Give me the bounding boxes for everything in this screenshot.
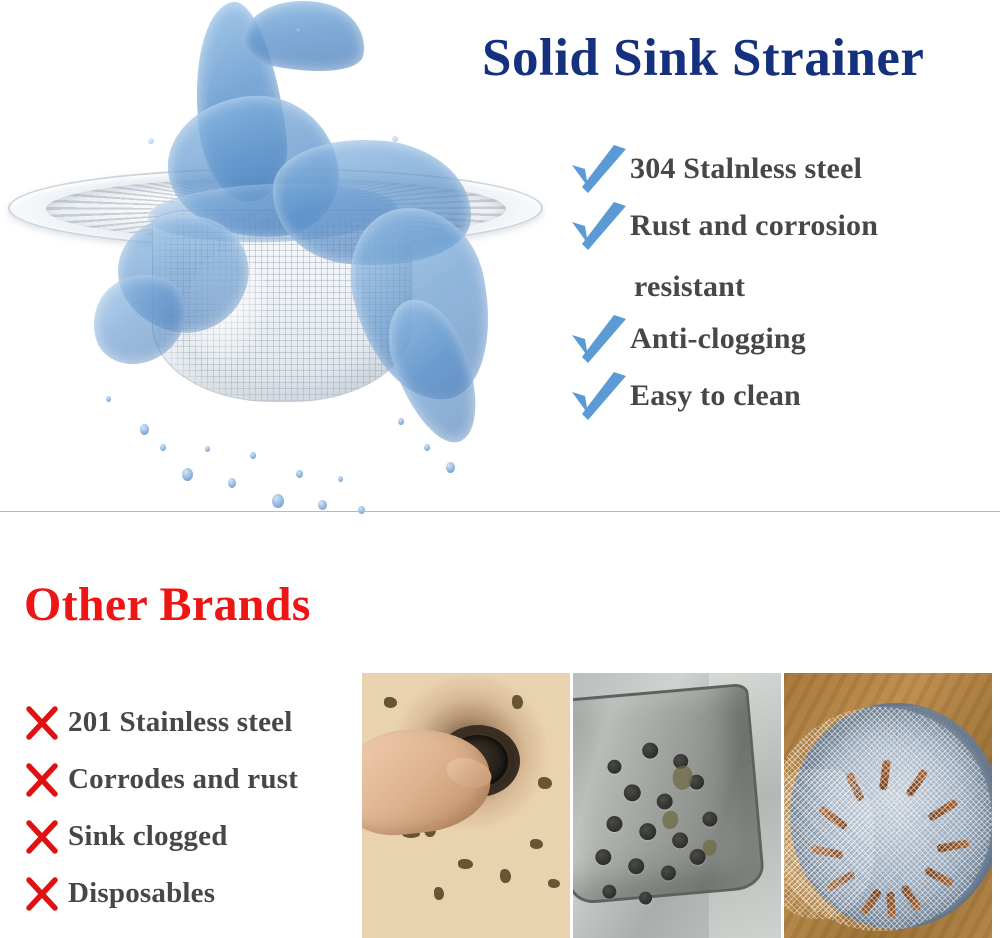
feature-label: resistant	[634, 263, 745, 311]
con-label: 201 Stainless steel	[68, 706, 293, 739]
page-title: Solid Sink Strainer	[482, 32, 982, 85]
feature-label: Anti-clogging	[630, 315, 806, 363]
check-icon	[568, 313, 630, 363]
con-label: Sink clogged	[68, 820, 228, 853]
con-item: Corrodes and rust	[20, 751, 360, 808]
check-icon	[568, 370, 630, 420]
feature-list: 304 Stalnless steel Rust and corrosion r…	[568, 145, 988, 429]
con-item: Sink clogged	[20, 808, 360, 865]
con-item: 201 Stainless steel	[20, 694, 360, 751]
con-label: Corrodes and rust	[68, 763, 298, 796]
perforated-strainer-cup	[573, 683, 766, 905]
con-item: Disposables	[20, 865, 360, 922]
feature-label: 304 Stalnless steel	[630, 145, 862, 193]
disposable-mesh-net	[784, 769, 874, 919]
feature-item: Easy to clean	[568, 372, 988, 429]
feature-item: Rust and corrosion	[568, 202, 988, 259]
x-icon	[20, 874, 68, 914]
top-section: Solid Sink Strainer 304 Stalnless steel	[0, 0, 1000, 510]
photo-dirty-perforated-strainer	[573, 673, 781, 938]
x-icon	[20, 817, 68, 857]
check-icon	[568, 200, 630, 250]
feature-label: Easy to clean	[630, 372, 801, 420]
comparison-photo-strip	[362, 673, 996, 938]
other-brands-heading: Other Brands	[24, 581, 311, 629]
hero-product-image	[0, 0, 560, 505]
bottom-section: Other Brands 201 Stainless steel Corrode…	[0, 512, 1000, 938]
cons-list: 201 Stainless steel Corrodes and rust Si…	[20, 694, 360, 922]
con-label: Disposables	[68, 877, 215, 910]
check-icon	[568, 143, 630, 193]
photo-disposable-net-liner	[784, 673, 992, 938]
photo-clogged-sink-drain	[362, 673, 570, 938]
feature-item: 304 Stalnless steel	[568, 145, 988, 202]
feature-item: Anti-clogging	[568, 315, 988, 372]
product-infographic: Solid Sink Strainer 304 Stalnless steel	[0, 0, 1000, 938]
basket-highlight	[186, 252, 272, 372]
feature-item-continuation: resistant	[568, 259, 988, 315]
feature-label: Rust and corrosion	[630, 202, 878, 250]
x-icon	[20, 703, 68, 743]
x-icon	[20, 760, 68, 800]
